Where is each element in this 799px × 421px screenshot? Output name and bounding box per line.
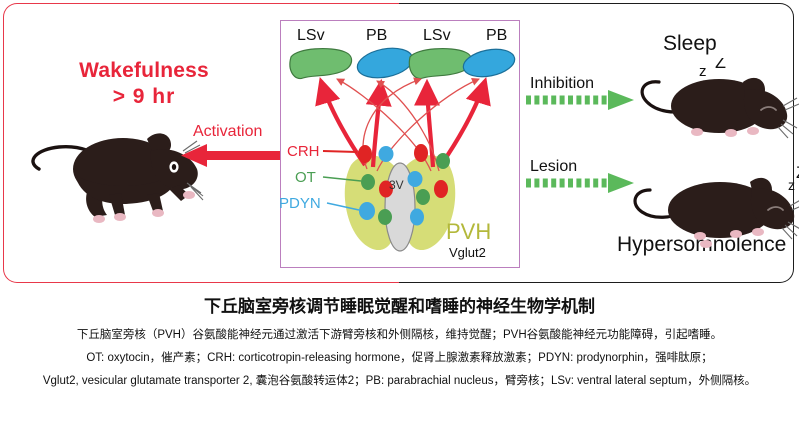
caption-line-3: Vglut2, vesicular glutamate transporter … xyxy=(0,370,799,393)
cell-crh-l1 xyxy=(358,145,372,163)
lesion-arrow xyxy=(524,171,644,195)
ventricle-label: 3V xyxy=(389,178,404,192)
pvh-circuit-schematic: LSv PB LSv PB xyxy=(280,20,520,268)
cell-crh-r1 xyxy=(414,144,428,162)
cell-ot-r1 xyxy=(436,153,450,169)
activation-arrow-shape xyxy=(181,144,293,167)
cell-crh-r2 xyxy=(434,180,448,198)
cell-pdyn-r2 xyxy=(410,209,424,226)
marker-label-ot: OT xyxy=(295,169,316,186)
nucleus-pb-left xyxy=(355,44,415,82)
cell-pdyn-l1 xyxy=(379,146,394,162)
nucleus-lsv-right xyxy=(409,49,471,79)
sleep-label: Sleep xyxy=(663,32,717,56)
marker-label-crh: CRH xyxy=(287,143,320,160)
hyper-z-small: z xyxy=(788,177,795,193)
sleep-z-small: z xyxy=(699,63,707,80)
marker-label-pdyn: PDYN xyxy=(279,195,321,212)
cell-ot-l1 xyxy=(361,174,375,190)
caption-block: 下丘脑室旁核调节睡眠觉醒和嗜睡的神经生物学机制 下丘脑室旁核（PVH）谷氨酸能神… xyxy=(0,290,799,393)
inhibition-arrow-head xyxy=(608,90,634,110)
caption-title: 下丘脑室旁核调节睡眠觉醒和嗜睡的神经生物学机制 xyxy=(0,290,799,318)
figure-panel: Wakefulness > 9 hr Activation xyxy=(3,3,794,283)
caption-line-2: OT: oxytocin，催产素；CRH: corticotropin-rele… xyxy=(0,347,799,370)
cell-pdyn-l2 xyxy=(359,202,375,220)
cell-pdyn-r1 xyxy=(408,171,423,187)
awake-mouse-illustration xyxy=(11,83,291,283)
leader-crh xyxy=(323,151,357,152)
cell-ot-r2 xyxy=(416,189,430,205)
hypersomnolent-mouse-illustration: z Z Z xyxy=(628,148,799,258)
activation-arrow xyxy=(175,143,295,173)
caption-line-1: 下丘脑室旁核（PVH）谷氨酸能神经元通过激活下游臂旁核和外侧隔核，维持觉醒；PV… xyxy=(0,318,799,347)
wakefulness-label: Wakefulness xyxy=(39,59,249,83)
projection-right-to-pb-right xyxy=(441,81,485,165)
cell-ot-l2 xyxy=(378,209,392,225)
inhibition-arrow xyxy=(524,88,644,112)
nucleus-lsv-left xyxy=(290,49,352,79)
vglut2-label: Vglut2 xyxy=(449,245,486,260)
pvh-label: PVH xyxy=(446,219,491,245)
sleep-z-large: Z xyxy=(715,58,726,72)
nucleus-pb-right xyxy=(461,45,517,80)
